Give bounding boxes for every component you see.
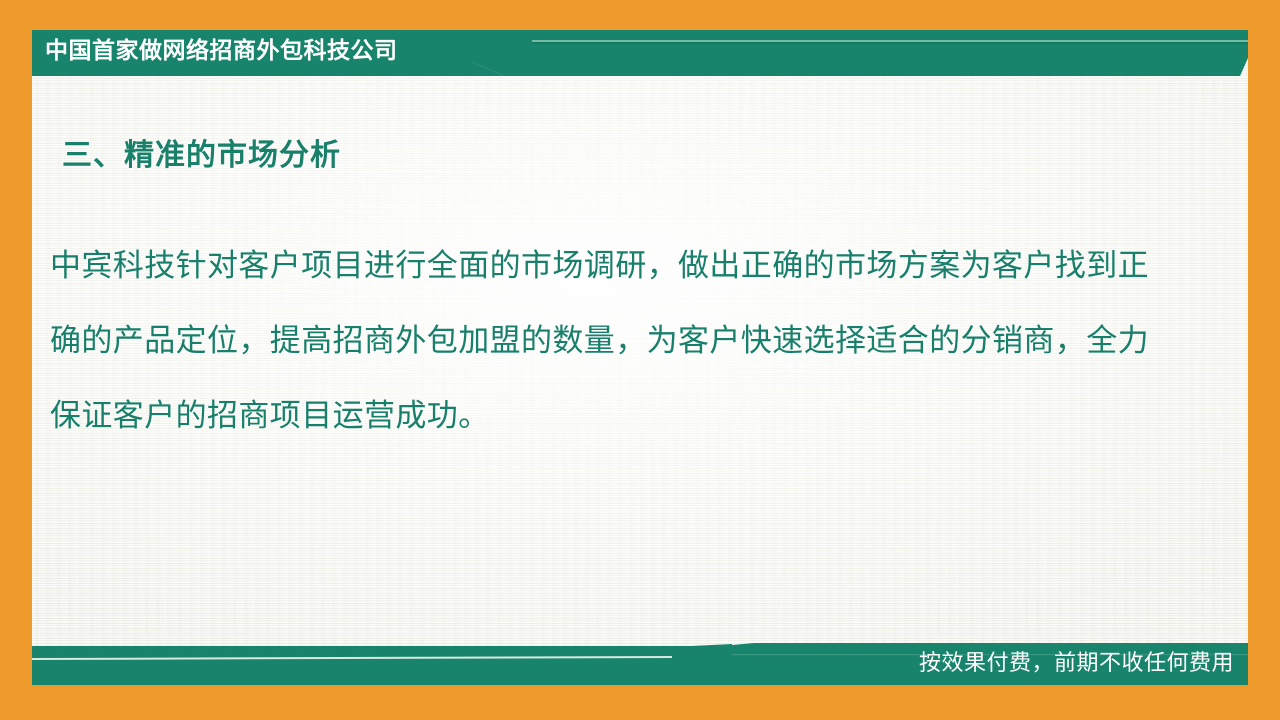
body-paragraph: 中宾科技针对客户项目进行全面的市场调研，做出正确的市场方案为客户找到正 确的产品… [50, 228, 1185, 453]
page-title: 三、精准的市场分析 [62, 136, 341, 176]
footer-tagline: 按效果付费，前期不收任何费用 [919, 648, 1234, 678]
body-line-3: 保证客户的招商项目运营成功。 [50, 378, 1185, 453]
header-banner-hairline [532, 40, 1248, 42]
header-banner-shadow-stripe [532, 42, 1248, 44]
presentation-slide: 中国首家做网络招商外包科技公司 三、精准的市场分析 中宾科技针对客户项目进行全面… [0, 0, 1280, 720]
body-line-1: 中宾科技针对客户项目进行全面的市场调研，做出正确的市场方案为客户找到正 [50, 228, 1185, 303]
header-title: 中国首家做网络招商外包科技公司 [45, 36, 398, 64]
header-banner-fold-shape [32, 62, 504, 76]
body-line-2: 确的产品定位，提高招商外包加盟的数量，为客户快速选择适合的分销商，全力 [50, 303, 1185, 378]
